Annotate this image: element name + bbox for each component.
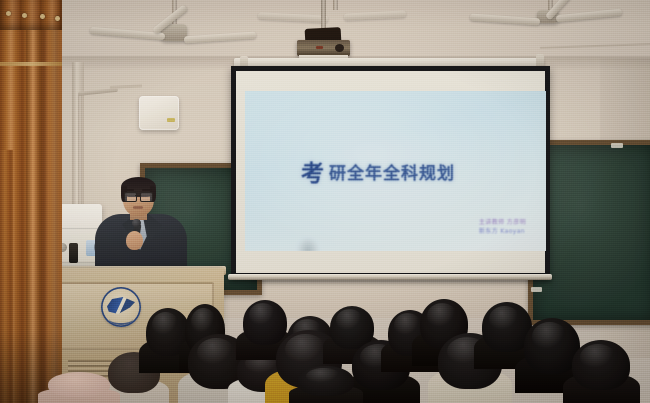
curtain-band	[0, 62, 62, 66]
audience-member-14	[298, 366, 354, 403]
curtain-ring-2	[22, 13, 27, 18]
slide-subtitle-line-1: 主讲教师 方彦明	[479, 219, 526, 228]
curtain-ring-1	[6, 11, 11, 16]
slide-title: 考研全年全科规划	[301, 154, 455, 188]
slide-subtitle-line-2: 新东方 Kaoyan	[479, 228, 526, 237]
eyeglass-lens-left	[124, 192, 137, 202]
presenter-brow-right	[142, 189, 152, 191]
slide-title-accent: 考	[301, 160, 325, 187]
curtain-ring-4	[55, 16, 60, 21]
projection-screen: 考研全年全科规划 主讲教师 方彦明 新东方 Kaoyan	[231, 66, 550, 278]
audience-member-13-head	[572, 340, 630, 390]
audience-front-left-head	[48, 372, 110, 397]
projector-lens	[335, 44, 344, 52]
slide-subtitle: 主讲教师 方彦明 新东方 Kaoyan	[479, 219, 526, 236]
wall-box-indicator-icon	[167, 118, 175, 122]
university-emblem	[101, 287, 141, 327]
emblem-arc-icon	[109, 313, 133, 325]
projected-slide: 考研全年全科规划 主讲教师 方彦明 新东方 Kaoyan	[245, 91, 546, 251]
screen-surface: 考研全年全科规划 主讲教师 方彦明 新东方 Kaoyan	[236, 71, 545, 273]
wall-control-box[interactable]	[139, 96, 179, 130]
curtain-ring-3	[40, 14, 45, 19]
audience-member-13	[572, 340, 630, 403]
audience-member-14-head	[298, 366, 354, 396]
screen-weight-bar	[228, 274, 552, 280]
lecture-hall-photo: 考研全年全科规划 主讲教师 方彦明 新东方 Kaoyan	[0, 0, 650, 403]
microphone-head	[132, 219, 141, 227]
presenter-hand	[126, 231, 143, 250]
ac-button[interactable]	[69, 243, 78, 263]
blackboard-sheen-right	[533, 145, 650, 320]
audience-front-left	[48, 372, 110, 403]
slide-title-rest: 研全年全科规划	[329, 164, 455, 184]
projector-indicator	[316, 46, 323, 49]
chalk-piece-bottom	[531, 287, 542, 292]
emblem-swoosh-icon	[107, 297, 135, 314]
chalk-piece-top	[611, 143, 623, 148]
eyeglasses-icon	[124, 192, 153, 200]
presenter-brow-left	[124, 189, 134, 191]
presenter-mouth	[133, 206, 143, 209]
eyeglass-lens-right	[140, 192, 153, 202]
